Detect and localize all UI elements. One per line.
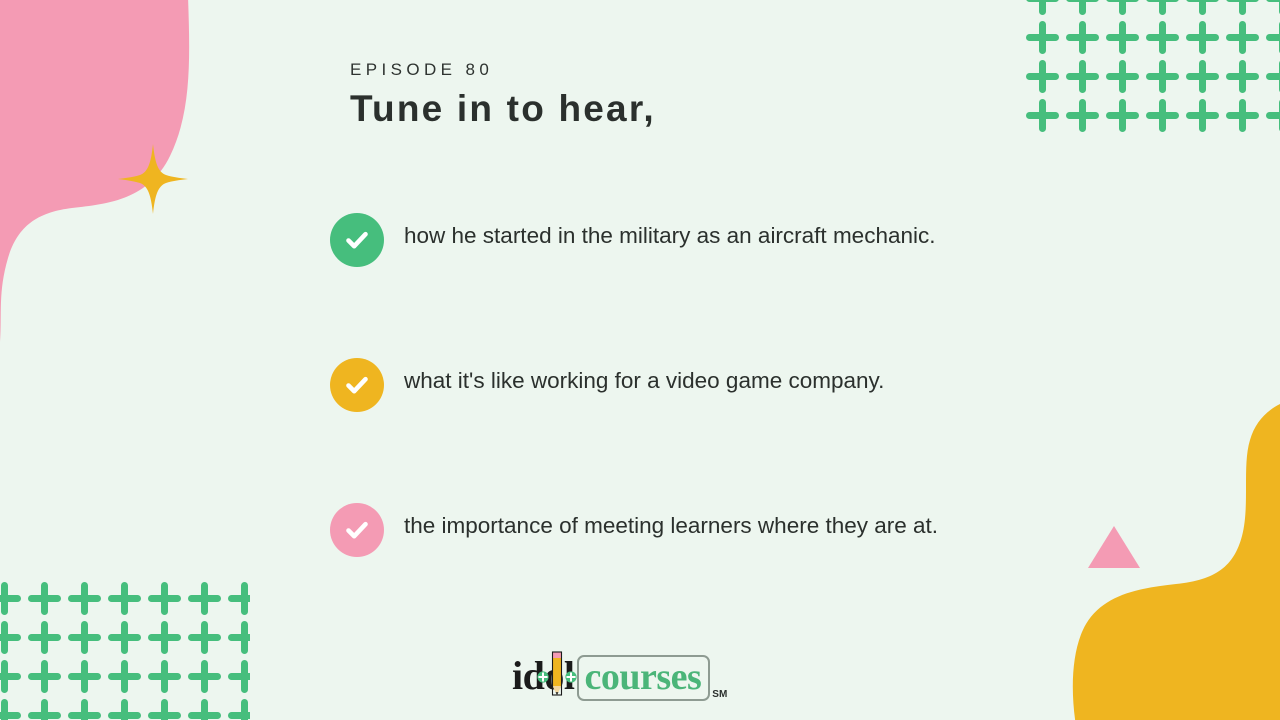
check-badge-green: [330, 213, 384, 267]
check-badge-yellow: [330, 358, 384, 412]
logo-word-primary: idol: [512, 656, 574, 696]
list-item-text: the importance of meeting learners where…: [404, 502, 938, 545]
check-icon: [342, 370, 372, 400]
check-icon: [342, 515, 372, 545]
check-icon: [342, 225, 372, 255]
brand-logo: idol courses SM: [512, 655, 727, 701]
check-badge-pink: [330, 503, 384, 557]
yellow-blob-decoration: [1020, 396, 1280, 720]
triangle-icon: [1088, 526, 1140, 568]
logo-wordmark: idol courses: [512, 655, 710, 701]
list-item-text: how he started in the military as an air…: [404, 212, 936, 255]
sparkle-star-icon: [118, 144, 188, 214]
logo-word-secondary: courses: [584, 656, 701, 698]
list-item: what it's like working for a video game …: [330, 357, 970, 412]
slide-title: Tune in to hear,: [350, 88, 970, 130]
logo-service-mark: SM: [712, 689, 727, 700]
episode-label: EPISODE 80: [350, 60, 970, 80]
slide-heading-block: EPISODE 80 Tune in to hear,: [330, 60, 970, 130]
plus-grid-icon-top-right: [1026, 0, 1280, 132]
list-item: the importance of meeting learners where…: [330, 502, 970, 557]
logo-courses-box: courses: [577, 655, 710, 701]
list-item: how he started in the military as an air…: [330, 212, 970, 267]
list-item-text: what it's like working for a video game …: [404, 357, 884, 400]
checklist: how he started in the military as an air…: [330, 212, 970, 557]
plus-grid-icon-bottom-left: [0, 582, 250, 720]
slide-canvas: EPISODE 80 Tune in to hear, how he start…: [0, 0, 1280, 720]
